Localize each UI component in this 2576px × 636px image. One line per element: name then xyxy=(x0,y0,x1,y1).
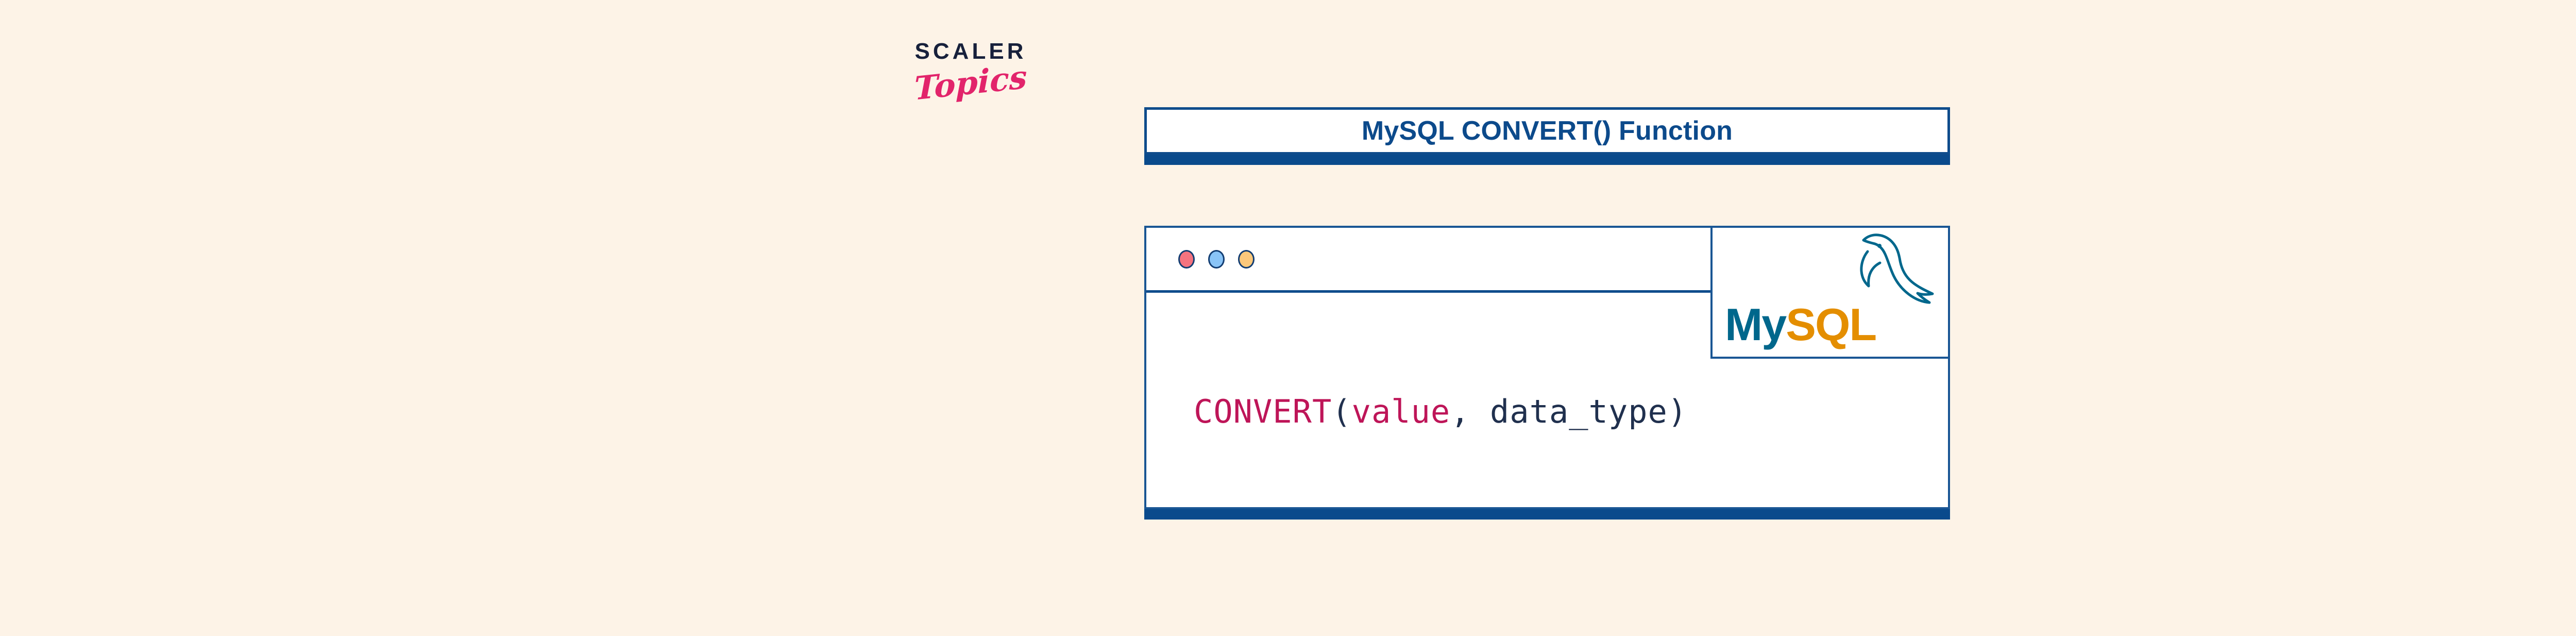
code-token-close-paren: ) xyxy=(1668,393,1687,430)
scaler-topics-logo: SCALER Topics xyxy=(904,40,1038,123)
window-minimize-dot-icon[interactable] xyxy=(1208,250,1225,269)
mysql-wordmark: MySQL xyxy=(1725,302,1876,347)
window-titlebar xyxy=(1146,228,1713,293)
page-title: MySQL CONVERT() Function xyxy=(1362,115,1733,146)
brand-script-text: Topics xyxy=(904,60,1038,106)
code-token-function: CONVERT xyxy=(1194,393,1332,430)
code-token-value: value xyxy=(1352,393,1451,430)
code-token-comma: , xyxy=(1450,393,1490,430)
code-token-data-type: data_type xyxy=(1490,393,1668,430)
title-card: MySQL CONVERT() Function xyxy=(1144,107,1950,155)
mysql-logo-badge: MySQL xyxy=(1710,226,1950,359)
window-close-dot-icon[interactable] xyxy=(1178,250,1195,269)
mysql-wordmark-sql: SQL xyxy=(1786,299,1876,350)
mysql-dolphin-icon xyxy=(1832,231,1940,308)
code-token-open-paren: ( xyxy=(1332,393,1351,430)
code-line: CONVERT(value, data_type) xyxy=(1194,396,1687,428)
window-maximize-dot-icon[interactable] xyxy=(1238,250,1255,269)
title-card-underbar xyxy=(1144,155,1950,165)
code-window-underbar xyxy=(1144,509,1950,520)
mysql-wordmark-my: My xyxy=(1725,299,1786,350)
